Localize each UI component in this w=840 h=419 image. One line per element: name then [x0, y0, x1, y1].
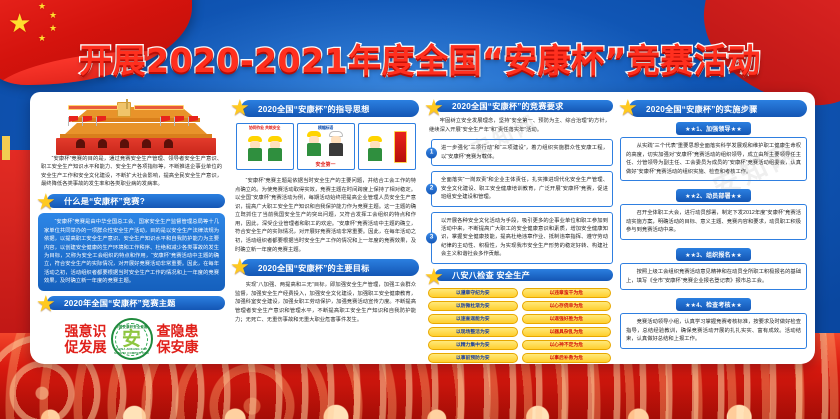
step-body: 竞赛活动领导小组，认真学习掌握竞赛考核标准，按要求及时做好检查指导，总结经验教训…	[620, 313, 807, 349]
requirement-text: 进一步强化“三项行动”和“三项建设”，着力组织实施群众性安康工程，以“安康杯”竞…	[441, 145, 608, 159]
comic-panel-1: 协同作业 共筑安全	[236, 123, 294, 170]
worker-figure	[267, 136, 283, 162]
safety-pill: 以逞强好胜为危	[522, 314, 612, 324]
section-header-label: 2020全国“安康杯”的指导思想	[258, 103, 369, 115]
safety-pill: 以现场整洁为安	[428, 327, 518, 337]
column-4: ★ 2020全国“安康杯”的实施步骤 ★★1、加强领导★★ 从实践“三个代表”重…	[620, 100, 807, 360]
step-tab-label: ★★1、加强领导★★	[676, 122, 751, 135]
pill-risk-text: 以逞强好胜为危	[549, 315, 583, 322]
requirement-number-badge: 2	[426, 183, 437, 194]
column-1: “安康杯”竞赛的目的是，通过竞赛安全生产管理、领导者安全生产意识、职工安全生产知…	[38, 100, 225, 360]
safety-pill: 以事后补救为危	[522, 353, 612, 363]
star-icon: ★	[424, 266, 447, 289]
worker-figure	[247, 136, 263, 162]
pill-risk-text: 以事后补救为危	[549, 354, 583, 361]
star-icon: ★	[424, 97, 447, 120]
pill-safe-text: 以现场整洁为安	[456, 328, 490, 335]
pill-safe-text: 以精力集中为安	[456, 341, 490, 348]
theme-slogan-left: 强意识 促发展	[65, 323, 107, 355]
poster-root: ★ ★ ★ ★ ★ 开展2020-2021年度全国“安康杯”竞赛活动 安知网 安…	[0, 0, 840, 419]
ankangbei-logo: 中国安康杯安全竞赛 安 CHINA ANKANG CUP SAFETY COMP…	[111, 318, 153, 360]
section-header-label: 2020全国“安康杯”的实施步骤	[646, 103, 757, 115]
safety-pill: 以防微杜渐为安	[428, 301, 518, 311]
safety-pill: 以心存侥幸为危	[522, 301, 612, 311]
section-header-2020-theme: ★ 2020年全国“安康杯”竞赛主题	[47, 296, 225, 310]
step-body: 按照上级工会组织竞赛活动意见精神和在动员全所职工积极报名的基础上，填写《全市“安…	[620, 263, 807, 290]
section-header-label: 什么是“安康杯”竞赛?	[64, 195, 145, 207]
pill-risk-text: 以心神不定为危	[549, 341, 583, 348]
section-header-competition-requirements: ★ 2020全国“安康杯”的竞赛要求	[435, 100, 613, 112]
requirement-item-3: 3 以开展各种安全文化活动为手段，吸引更多的企事业单位和职工参加到活动中来，不断…	[431, 212, 613, 264]
star-icon: ★	[618, 97, 641, 120]
step-tab-label: ★★4、检查考核★★	[676, 298, 751, 311]
step-1: ★★1、加强领导★★ 从实践“三个代表”重要思想全面落实科学发展观和维护职工健康…	[620, 122, 807, 181]
pill-safe-text: 以速查逞能为安	[456, 315, 490, 322]
theme-slogan-left-line1: 强意识	[65, 323, 107, 339]
column1-section1-body: “安康杯”竞赛是由中华全国总工会、国家安全生产监督管理总局等十几家单位共同举办的…	[38, 213, 225, 291]
column-3: ★ 2020全国“安康杯”的竞赛要求 牢固树立安全发展理念，坚持“安全第一、预防…	[426, 100, 613, 360]
column1-intro-paragraph: “安康杯”竞赛的目的是，通过竞赛安全生产管理、领导者安全生产意识、职工安全生产知…	[38, 155, 225, 189]
pill-risk-text: 以器具杂乱为危	[549, 328, 583, 335]
requirement-number-badge: 3	[426, 232, 437, 243]
step-3: ★★3、组织报名★★ 按照上级工会组织竞赛活动意见精神和在动员全所职工积极报名的…	[620, 248, 807, 290]
section-header-what-is-ankangbei: ★ 什么是“安康杯”竞赛?	[47, 194, 225, 208]
content-board: “安康杯”竞赛的目的是，通过竞赛安全生产管理、领导者安全生产意识、职工安全生产知…	[30, 92, 815, 364]
comic-panel-2: 横幅标语 安全第一	[297, 123, 355, 170]
safety-warning-sign	[394, 131, 407, 163]
theme-slogan-right: 查隐患 保安康	[157, 323, 199, 355]
star-icon: ★	[230, 97, 253, 120]
safety-pill: 以精力集中为安	[428, 340, 518, 350]
section-header-implementation-steps: ★ 2020全国“安康杯”的实施步骤	[629, 100, 807, 117]
logo-ring-top-text: 中国安康杯安全竞赛	[113, 324, 151, 329]
safety-pill: 以遵章守纪为安	[428, 288, 518, 298]
flag-star-small-3: ★	[49, 24, 57, 33]
safety-pill: 以速查逞能为安	[428, 314, 518, 324]
requirement-item-2: 2 全面落实“一岗双责”和企业主体责任，扎实推进现代化安全生产管理、安全文化建设…	[431, 171, 613, 206]
column-2: ★ 2020全国“安康杯”的指导思想 协同作业 共筑安全 横幅标语	[232, 100, 419, 360]
pill-risk-text: 以心存侥幸为危	[549, 302, 583, 309]
tiananmen-illustration	[42, 101, 221, 148]
poster-title-wrap: 开展2020-2021年度全国“安康杯”竞赛活动	[0, 34, 840, 82]
pill-safe-text: 以遵章守纪为安	[456, 289, 490, 296]
step-2: ★★2、动员部署★★ 召开全体职工大会，进行动员部署，制定下发2012年度“安康…	[620, 189, 807, 240]
pill-risk-text: 以违章蛮干为危	[549, 289, 583, 296]
section-header-label: 2020年全国“安康杯”竞赛主题	[64, 297, 175, 309]
theme-slogan-right-line2: 保安康	[157, 339, 199, 355]
section-header-guiding-thought: ★ 2020全国“安康杯”的指导思想	[241, 100, 419, 117]
comic-caption: 协同作业 共筑安全	[237, 125, 293, 131]
poster-title: 开展2020-2021年度全国“安康杯”竞赛活动	[79, 34, 761, 82]
flag-star-small-1: ★	[38, 2, 46, 11]
safety-pill: 以心神不定为危	[522, 340, 612, 350]
worker-figure	[367, 136, 383, 162]
step-tab-label: ★★2、动员部署★★	[676, 189, 751, 202]
column3-intro-paragraph: 牢固树立安全发展理念，坚持“安全第一、预防为主、综合治理”的方针，继续深入开展“…	[426, 117, 613, 134]
eight-safety-pill-grid: 以遵章守纪为安 以违章蛮干为危 以防微杜渐为安 以心存侥幸为危 以速查逞能为安 …	[426, 286, 613, 364]
section-header-label: 八安八检查 安全生产	[452, 269, 530, 281]
requirement-number-badge: 1	[426, 147, 437, 158]
step-4: ★★4、检查考核★★ 竞赛活动领导小组，认真学习掌握竞赛考核标准，按要求及时做好…	[620, 298, 807, 349]
logo-center-char: 安	[122, 330, 141, 349]
comic-panel-3	[358, 123, 416, 170]
worker-figure	[328, 131, 344, 157]
pill-safe-text: 以事前预防为安	[456, 354, 490, 361]
safety-pill: 以事前预防为安	[428, 353, 518, 363]
star-icon: ★	[230, 256, 253, 279]
section-header-label: 2020全国“安康杯”的竞赛要求	[452, 100, 563, 112]
pill-safe-text: 以防微杜渐为安	[456, 302, 490, 309]
requirement-text: 以开展各种安全文化活动为手段，吸引更多的企事业单位和职工参加到活动中来，不断提高…	[441, 218, 608, 258]
requirement-item-1: 1 进一步强化“三项行动”和“三项建设”，着力组织实施群众性安康工程，以“安康杯…	[431, 139, 613, 166]
section-header-label: 2020全国“安康杯”的主要目标	[258, 262, 369, 274]
theme-slogan-right-line1: 查隐患	[157, 323, 199, 339]
worker-figure	[306, 131, 322, 157]
logo-ring-bottom-text: CHINA ANKANG CUP SAFETY COMPETITION	[113, 347, 151, 355]
theme-slogan-left-line2: 促发展	[65, 339, 107, 355]
flag-star-small-2: ★	[49, 11, 57, 20]
star-icon: ★	[36, 191, 59, 214]
column2-section2-body: 实现“八加强、两提高和三无”目标，即加强安全生产管理，加强工会群众监督，加强安全…	[232, 281, 419, 324]
column2-section1-body: “安康杯”竞赛主题是依据当时安全生产的主要问题，并结合工会工作的特点确立的。为使…	[232, 177, 419, 254]
safety-pill: 以器具杂乱为危	[522, 327, 612, 337]
comic-bottom-caption: 安全第一	[298, 161, 354, 168]
safety-comic-strip: 协同作业 共筑安全 横幅标语 安全第一	[232, 123, 419, 170]
theme-slogan-row: 强意识 促发展 中国安康杯安全竞赛 安 CHINA ANKANG CUP SAF…	[38, 315, 225, 360]
safety-pill: 以违章蛮干为危	[522, 288, 612, 298]
step-tab-label: ★★3、组织报名★★	[676, 248, 751, 261]
step-body: 召开全体职工大会，进行动员部署，制定下发2012年度“安康杯”竞赛活动实施方案，…	[620, 204, 807, 240]
flag-star-large: ★	[8, 10, 31, 36]
step-body: 从实践“三个代表”重要思想全面落实科学发展观和维护职工健康生命权的高度，切实加强…	[620, 137, 807, 181]
section-header-eight-safety-checks: ★ 八安八检查 安全生产	[435, 269, 613, 281]
section-header-main-goals: ★ 2020全国“安康杯”的主要目标	[241, 259, 419, 276]
star-icon: ★	[36, 293, 59, 316]
requirement-text: 全面落实“一岗双责”和企业主体责任，扎实推进现代化安全生产管理、安全文化建设、职…	[441, 177, 608, 200]
